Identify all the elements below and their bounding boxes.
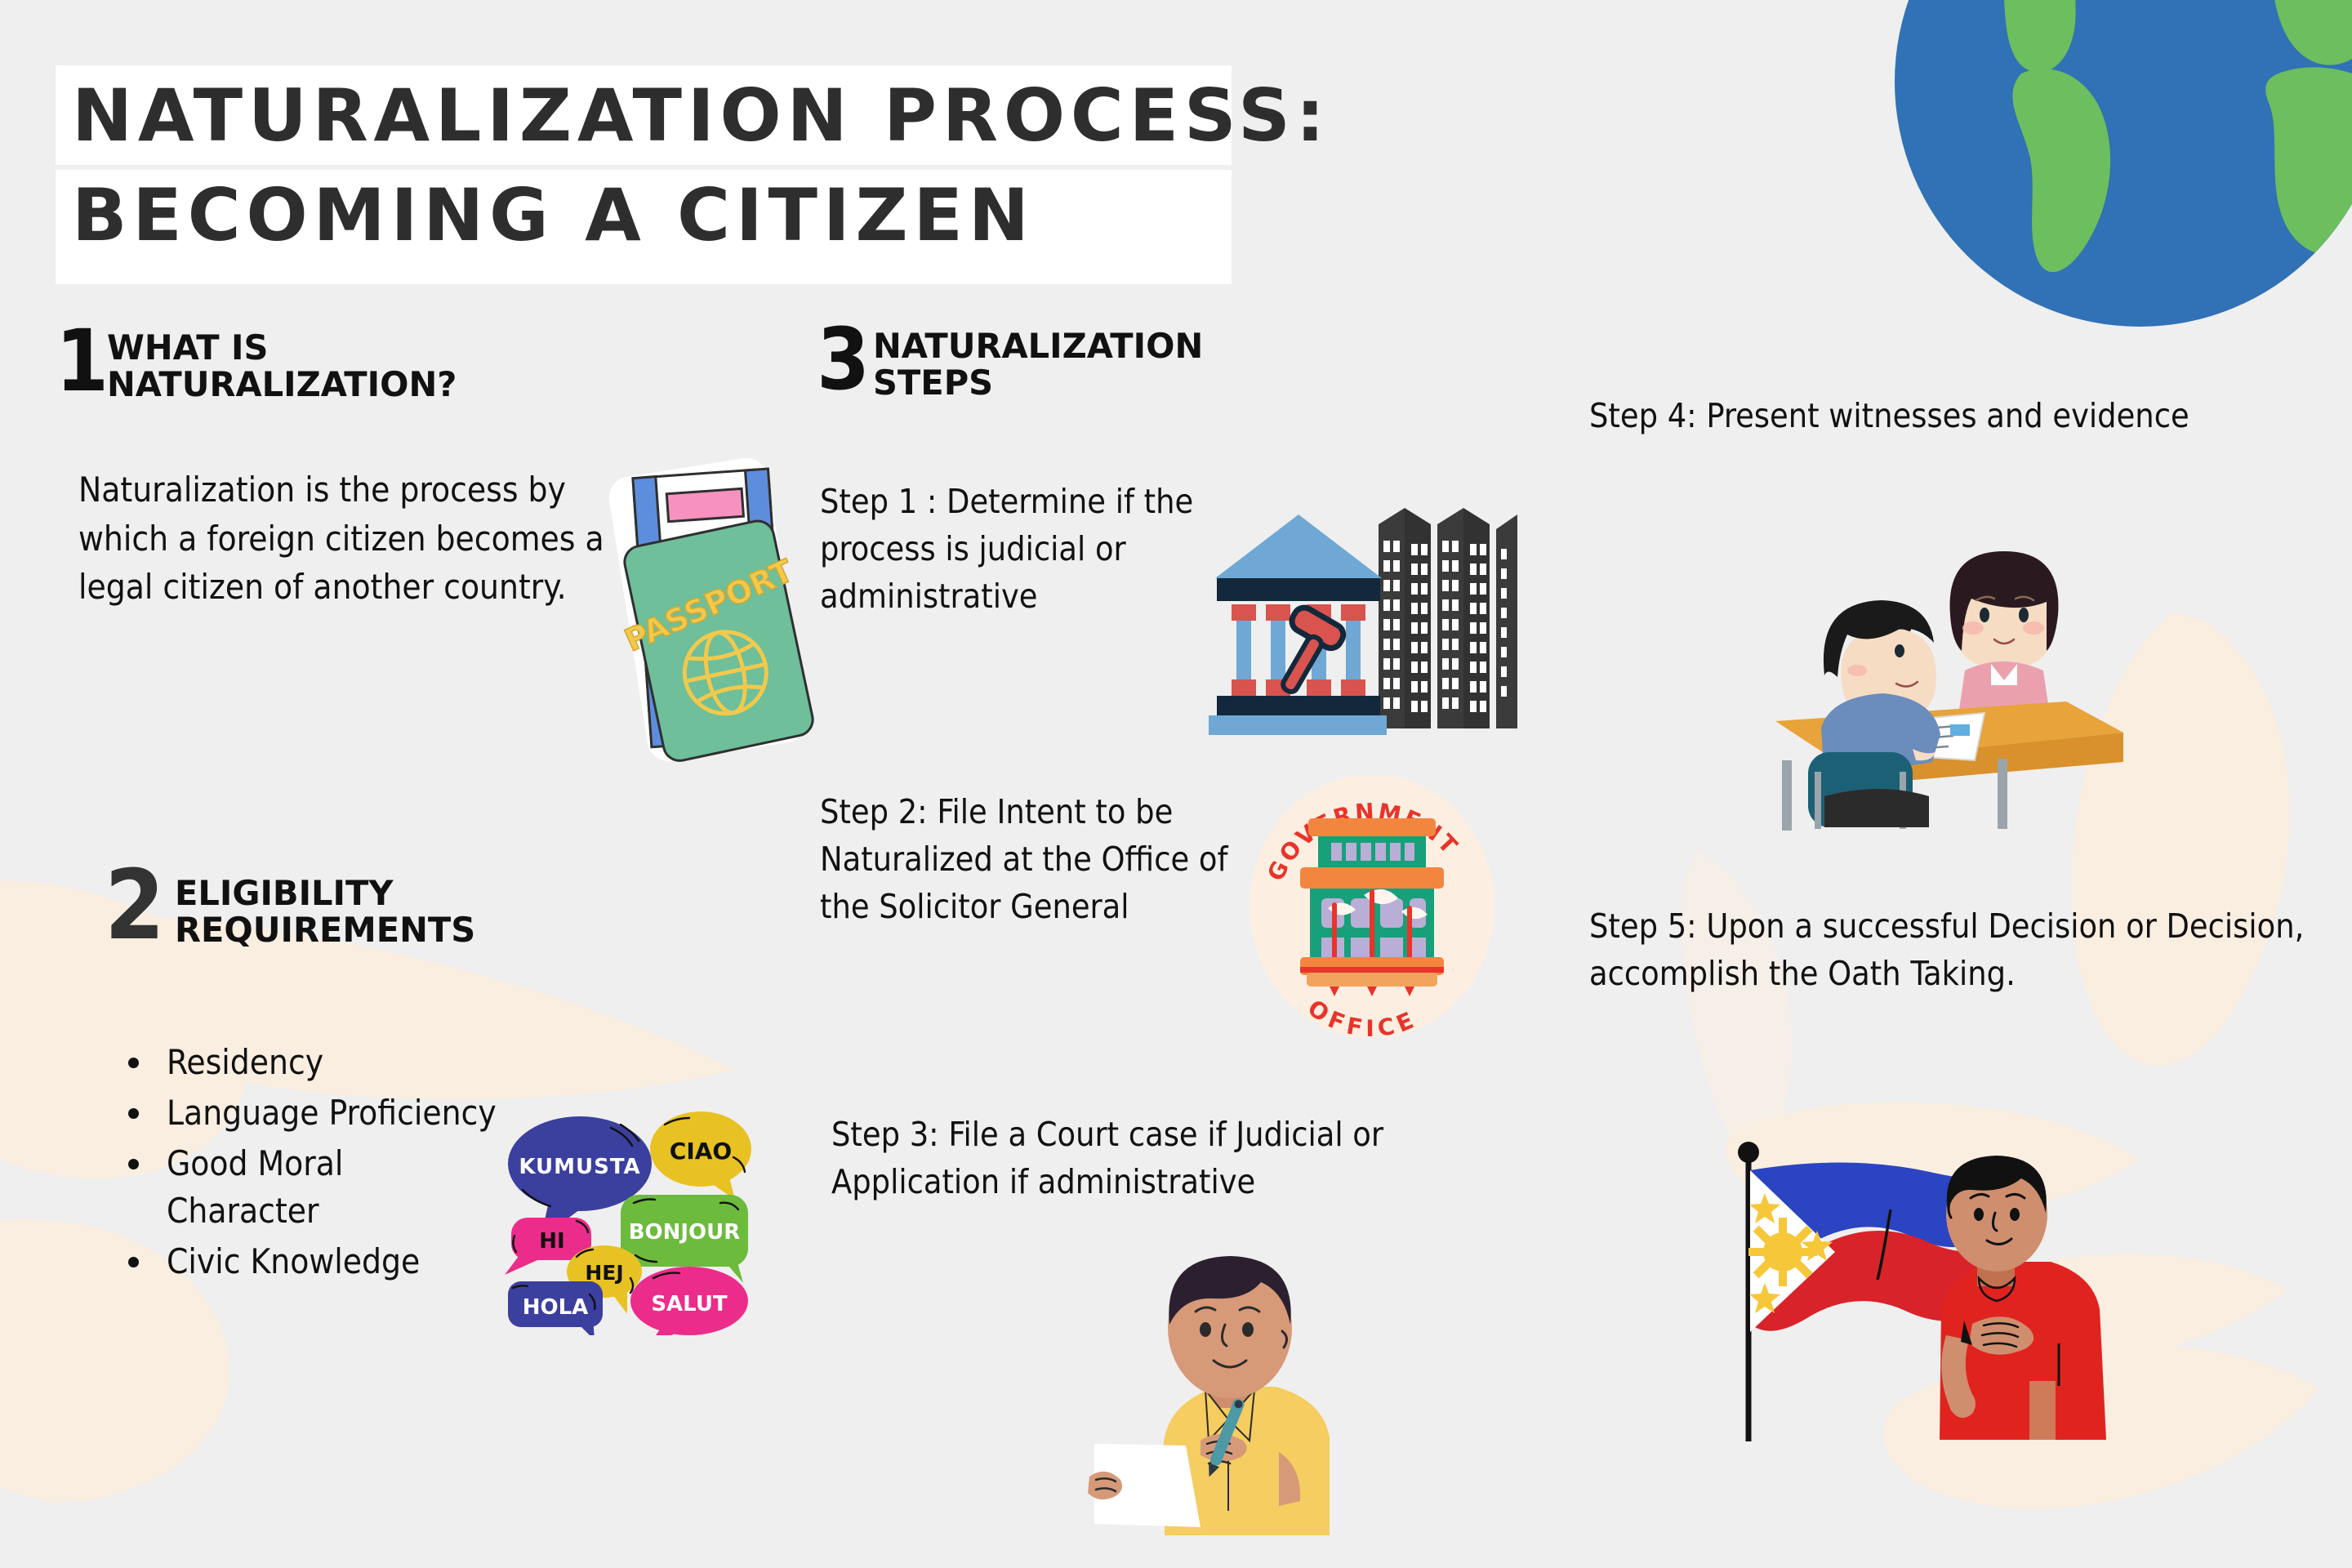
section-2-number: 2 xyxy=(105,866,163,945)
earth-globe-icon xyxy=(1854,0,2352,379)
section-3-header: 3 NATURALIZATION STEPS xyxy=(817,325,1174,402)
list-item: Civic Knowledge xyxy=(155,1238,498,1285)
title-line-2-text: BECOMING A CITIZEN xyxy=(72,180,1035,252)
courthouse-gavel-skyline-icon xyxy=(1209,490,1552,738)
step-2-text: Step 2: File Intent to be Naturalized at… xyxy=(820,788,1261,931)
eligibility-requirements-list: Residency Language Proficiency Good Mora… xyxy=(105,1039,498,1289)
bubble-ciao: CIAO xyxy=(650,1111,751,1200)
witness-interview-scene-icon xyxy=(1739,527,2164,840)
section-3-number: 3 xyxy=(817,325,868,394)
list-item: Residency xyxy=(155,1039,498,1086)
section-1-header: 1 WHAT IS NATURALIZATION? xyxy=(56,327,425,403)
multilingual-speech-bubbles-icon: KUMUSTA CIAO HI xyxy=(490,1098,768,1339)
title-line-1: NATURALIZATION PROCESS: xyxy=(56,65,1232,165)
step-4-text: Step 4: Present witnesses and evidence xyxy=(1589,392,2243,439)
section-1-number: 1 xyxy=(56,327,107,396)
infographic-canvas: NATURALIZATION PROCESS: BECOMING A CITIZ… xyxy=(0,0,2352,1568)
step-3-text: Step 3: File a Court case if Judicial or… xyxy=(831,1111,1403,1205)
section-2-title-line-1: ELIGIBILITY xyxy=(175,875,475,912)
section-1-title-line-2: NATURALIZATION? xyxy=(107,367,457,403)
list-item: Good Moral Character xyxy=(155,1140,498,1235)
svg-text:SALUT: SALUT xyxy=(651,1292,728,1316)
section-3-title: NATURALIZATION STEPS xyxy=(873,325,1173,402)
bubble-salut: SALUT xyxy=(630,1267,748,1335)
svg-text:CIAO: CIAO xyxy=(670,1138,732,1165)
page-title: NATURALIZATION PROCESS: BECOMING A CITIZ… xyxy=(56,65,1232,284)
man-writing-application-icon xyxy=(1086,1233,1356,1539)
passport-booklet-icon: PASSPORT xyxy=(600,453,829,775)
list-item: Language Proficiency xyxy=(155,1089,498,1137)
step-5-text: Step 5: Upon a successful Decision or De… xyxy=(1589,902,2352,997)
section-3-title-line-2: STEPS xyxy=(873,365,1203,402)
section-1-title: WHAT IS NATURALIZATION? xyxy=(107,327,425,403)
svg-text:HEJ: HEJ xyxy=(585,1261,623,1285)
title-line-1-text: NATURALIZATION PROCESS: xyxy=(72,80,1330,152)
svg-text:BONJOUR: BONJOUR xyxy=(629,1220,741,1245)
section-2-title-line-2: REQUIREMENTS xyxy=(175,912,475,949)
section-3-title-line-1: NATURALIZATION xyxy=(873,328,1203,365)
government-office-building-icon: GOVERNMENT xyxy=(1249,776,1494,1040)
svg-text:KUMUSTA: KUMUSTA xyxy=(519,1155,640,1179)
svg-text:HI: HI xyxy=(539,1229,564,1254)
bubble-hola: HOLA xyxy=(508,1281,603,1335)
section-1-title-line-1: WHAT IS xyxy=(107,330,457,367)
svg-text:HOLA: HOLA xyxy=(523,1295,589,1320)
step-1-text: Step 1 : Determine if the process is jud… xyxy=(820,478,1204,621)
section-1-body: Naturalization is the process by which a… xyxy=(78,465,617,612)
section-2-title: ELIGIBILITY REQUIREMENTS xyxy=(175,866,448,949)
section-2-header: 2 ELIGIBILITY REQUIREMENTS xyxy=(105,866,448,949)
flag-oath-taking-icon xyxy=(1703,1098,2160,1445)
title-line-2: BECOMING A CITIZEN xyxy=(56,170,1232,284)
